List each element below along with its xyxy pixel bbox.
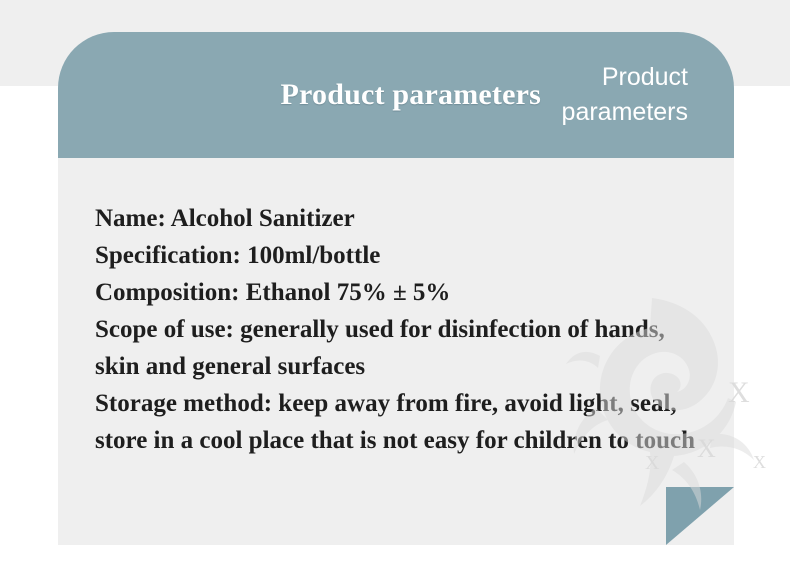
- corner-fold-decoration: [666, 487, 734, 545]
- card-body: Name: Alcohol Sanitizer Specification: 1…: [58, 158, 734, 545]
- product-parameters-page: Product parameters Product parameters Na…: [0, 0, 790, 588]
- list-item: Storage method: keep away from fire, avo…: [95, 385, 695, 459]
- card-header: Product parameters Product parameters: [58, 32, 734, 158]
- product-parameters-card: Product parameters Product parameters Na…: [58, 32, 734, 545]
- watermark-mark: X: [753, 452, 766, 473]
- page-title: Product parameters: [58, 78, 541, 112]
- list-item: Composition: Ethanol 75% ± 5%: [95, 274, 695, 311]
- list-item: Scope of use: generally used for disinfe…: [95, 311, 695, 385]
- list-item: Specification: 100ml/bottle: [95, 237, 695, 274]
- list-item: Name: Alcohol Sanitizer: [95, 200, 695, 237]
- header-subtitle-line2: parameters: [478, 95, 688, 130]
- specification-list: Name: Alcohol Sanitizer Specification: 1…: [95, 200, 695, 459]
- header-subtitle: Product parameters: [478, 60, 688, 130]
- header-subtitle-line1: Product: [478, 60, 688, 95]
